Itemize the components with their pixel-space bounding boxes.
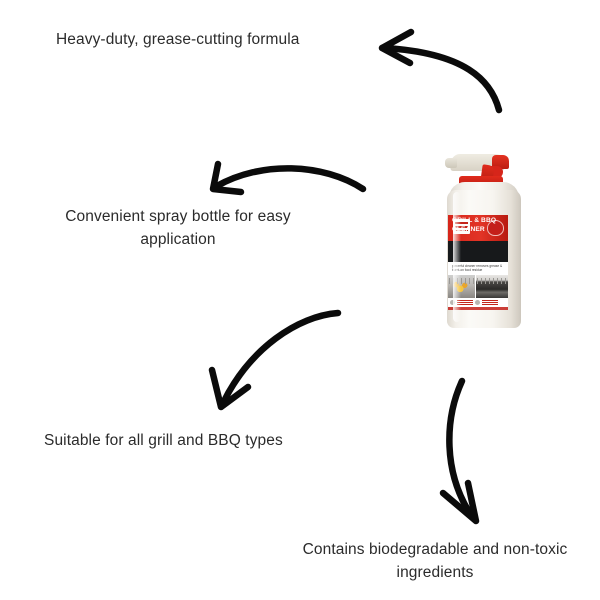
feature-caption-spray-bottle: Convenient spray bottle for easy applica… bbox=[44, 205, 312, 251]
bottle-highlight bbox=[453, 192, 461, 322]
curved-arrow-pointing-down-icon bbox=[440, 378, 485, 528]
spray-nozzle bbox=[445, 158, 457, 168]
label-info-text-2 bbox=[482, 300, 498, 305]
curved-arrow-pointing-left-icon bbox=[370, 18, 510, 113]
feature-caption-heavy-duty: Heavy-duty, grease-cutting formula bbox=[56, 28, 356, 51]
product-bottle-image: GRILL & BBQ CLEANER powerful cleaner rem… bbox=[437, 152, 542, 328]
feature-caption-all-grill-types: Suitable for all grill and BBQ types bbox=[44, 429, 334, 452]
label-info-icon-2 bbox=[475, 300, 480, 305]
curved-arrow-pointing-down-left-icon-2 bbox=[208, 308, 343, 413]
poster-canvas: Heavy-duty, grease-cutting formula Conve… bbox=[0, 0, 600, 600]
label-photo-grill bbox=[475, 275, 508, 298]
curved-arrow-pointing-down-left-icon bbox=[203, 160, 368, 200]
feature-caption-biodegradable: Contains biodegradable and non-toxic ing… bbox=[289, 538, 581, 584]
